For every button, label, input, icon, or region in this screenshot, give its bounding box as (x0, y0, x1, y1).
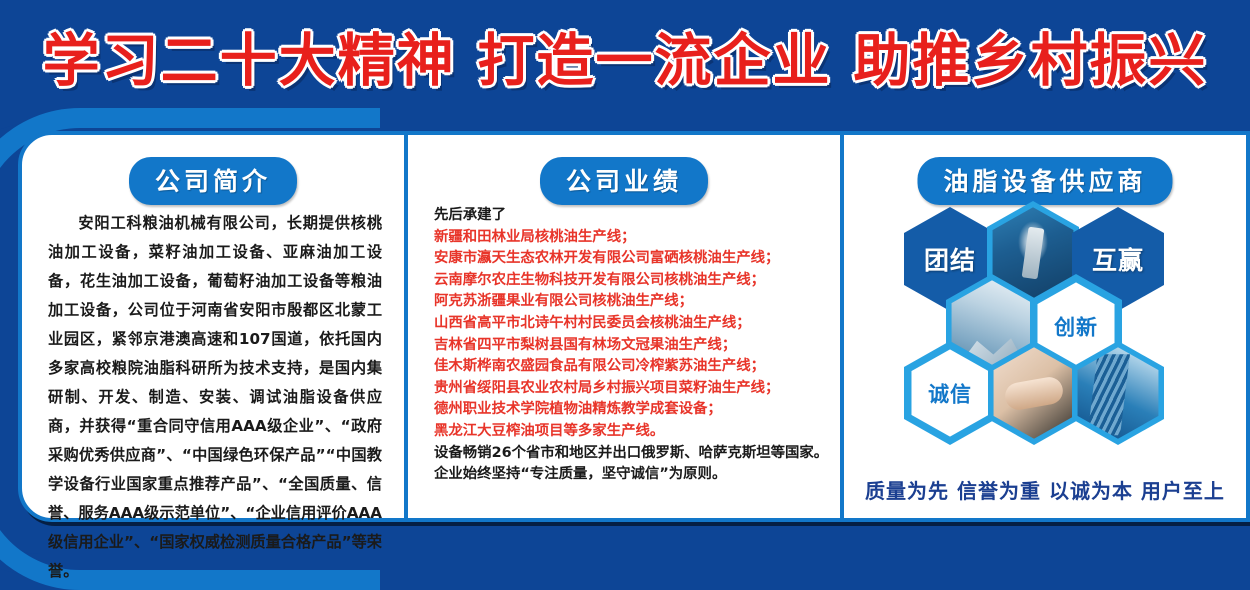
content-card: 公司简介 安阳工科粮油机械有限公司，长期提供核桃油加工设备，菜籽油加工设备、亚麻… (18, 131, 1250, 522)
hexagon-label: 创新 (1054, 311, 1098, 341)
performance-project-lines: 新疆和田林业局核桃油生产线；安康市瀛天生态农林开发有限公司富硒核桃油生产线；云南… (434, 227, 824, 443)
panel-title-company-performance: 公司业绩 (540, 157, 708, 205)
hexagon-label: 诚信 (928, 378, 972, 408)
header-banner: 学习二十大精神 打造一流企业 助推乡村振兴 (0, 0, 1250, 112)
display-board: 学习二十大精神 打造一流企业 助推乡村振兴 公司简介 安阳工科粮油机械有限公司，… (0, 0, 1250, 590)
performance-project-line: 佳木斯桦南农盛园食品有限公司冷榨紫苏油生产线； (434, 356, 824, 378)
panel-supplier: 油脂设备供应商 团结互赢创新诚信 质量为先 信誉为重 以诚为本 用户至上 (844, 135, 1246, 518)
hexagon-inner: 诚信 (911, 349, 988, 436)
performance-project-line: 云南摩尔农庄生物科技开发有限公司核桃油生产线； (434, 270, 824, 292)
performance-project-line: 德州职业技术学院植物油精炼教学成套设备； (434, 399, 824, 421)
performance-footer-line: 企业始终坚持“专注质量，坚守诚信”为原则。 (434, 464, 824, 486)
performance-project-line: 阿克苏浙疆果业有限公司核桃油生产线； (434, 291, 824, 313)
performance-project-line: 新疆和田林业局核桃油生产线； (434, 227, 824, 249)
hexagon-cluster: 团结互赢创新诚信 (844, 201, 1246, 451)
hexagon-label: 互赢 (1092, 241, 1144, 277)
performance-footer-line: 设备畅销26个省市和地区并出口俄罗斯、哈萨克斯坦等国家。 (434, 443, 824, 465)
panel-company-performance: 公司业绩 先后承建了 新疆和田林业局核桃油生产线；安康市瀛天生态农林开发有限公司… (408, 135, 844, 518)
performance-project-line: 黑龙江大豆榨油项目等多家生产线。 (434, 421, 824, 443)
performance-footer-lines: 设备畅销26个省市和地区并出口俄罗斯、哈萨克斯坦等国家。企业始终坚持“专注质量，… (434, 443, 824, 486)
page-title: 学习二十大精神 打造一流企业 助推乡村振兴 (43, 15, 1208, 97)
performance-list: 先后承建了 新疆和田林业局核桃油生产线；安康市瀛天生态农林开发有限公司富硒核桃油… (434, 205, 824, 486)
performance-project-line: 山西省高平市北诗午村村民委员会核桃油生产线； (434, 313, 824, 335)
supplier-slogan: 质量为先 信誉为重 以诚为本 用户至上 (844, 475, 1246, 504)
panel-title-supplier: 油脂设备供应商 (917, 157, 1172, 205)
performance-project-line: 吉林省四平市梨树县国有林场文冠果油生产线； (434, 335, 824, 357)
performance-project-line: 安康市瀛天生态农林开发有限公司富硒核桃油生产线； (434, 248, 824, 270)
hexagon-label: 团结 (924, 241, 976, 277)
company-intro-text: 安阳工科粮油机械有限公司，长期提供核桃油加工设备，菜籽油加工设备、亚麻油加工设备… (48, 209, 382, 586)
performance-lead: 先后承建了 (434, 205, 824, 227)
handshake-photo-image (994, 347, 1075, 439)
skyscraper-photo-image (1078, 347, 1159, 439)
panel-company-intro: 公司简介 安阳工科粮油机械有限公司，长期提供核桃油加工设备，菜籽油加工设备、亚麻… (22, 135, 408, 518)
performance-project-line: 贵州省绥阳县农业农村局乡村振兴项目菜籽油生产线； (434, 378, 824, 400)
panel-title-company-intro: 公司简介 (129, 157, 297, 205)
